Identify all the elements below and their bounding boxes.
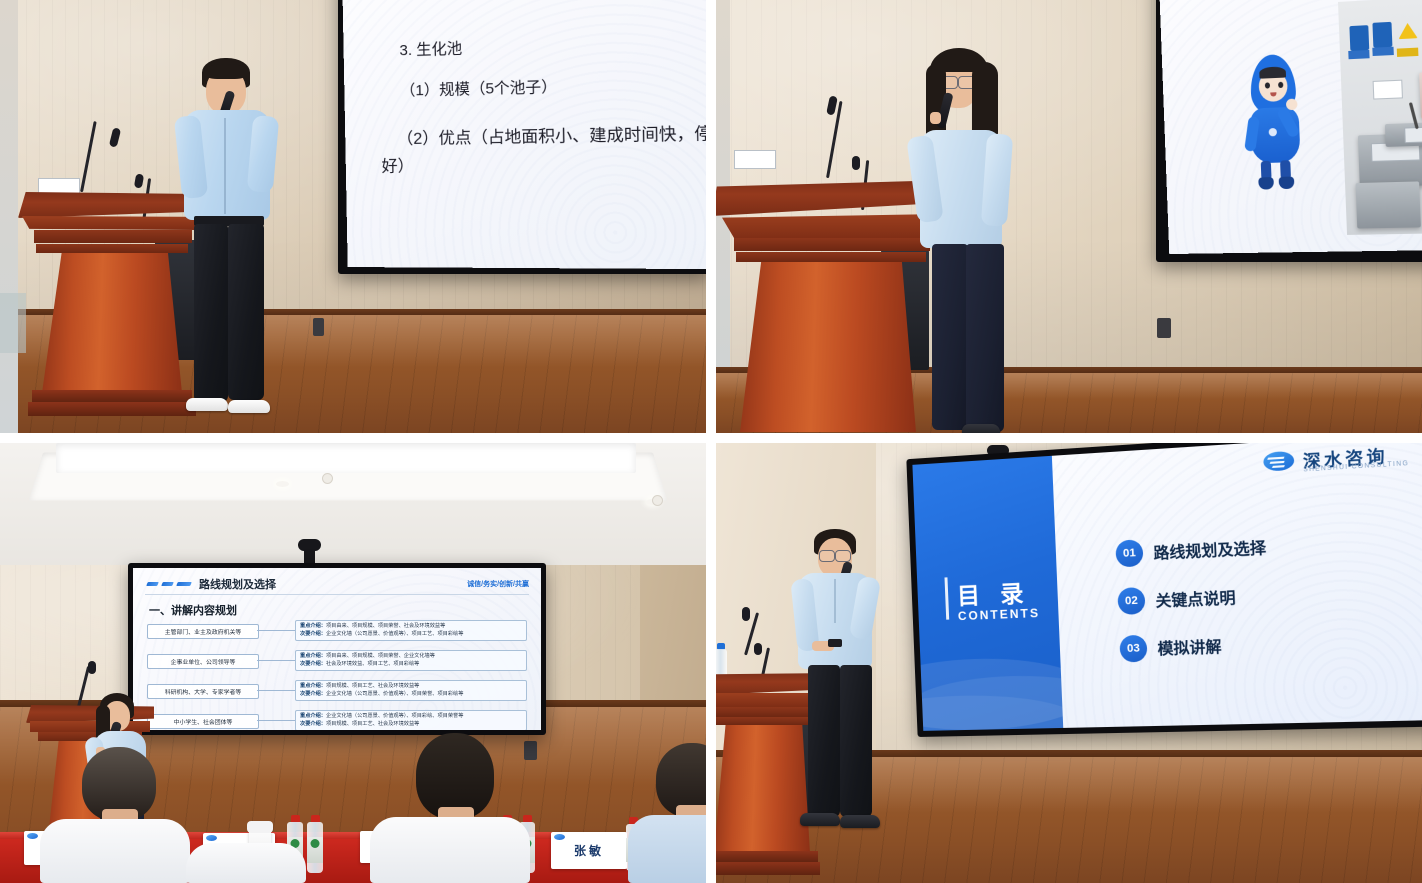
led-screen: 目 录 CONTENTS 深水咨询 SHENSHUI CONSULTING bbox=[912, 443, 1422, 731]
presenter-female bbox=[906, 48, 1030, 433]
audience-member-2 bbox=[370, 733, 530, 883]
mandatory-sign-icon bbox=[1349, 25, 1369, 51]
shoe-right bbox=[962, 424, 1000, 433]
detail-secondary-text-1: 企业文化墙（公司愿景、价值观等）、项目工艺、项目彩绘等 bbox=[326, 631, 463, 637]
podium-base-2 bbox=[28, 402, 196, 416]
water-drop-mascot bbox=[1244, 53, 1306, 192]
shoe-right bbox=[228, 400, 270, 413]
audience-member-1 bbox=[40, 747, 190, 883]
sprinkler bbox=[652, 495, 663, 506]
wall-edge bbox=[0, 0, 18, 433]
detail-secondary-label-3: 次要介绍： bbox=[300, 691, 326, 697]
arm-right bbox=[247, 115, 280, 193]
detail-secondary-text-3: 企业文化墙（公司愿景、价值观等）、项目荣誉、项目彩绘等 bbox=[326, 691, 463, 697]
detail-secondary-label-1: 次要介绍： bbox=[300, 631, 326, 637]
hair-fringe bbox=[204, 64, 248, 79]
downlight-1 bbox=[276, 481, 289, 487]
detail-primary-label-1: 重点介绍： bbox=[300, 623, 326, 629]
name-placard-3: 张敏 bbox=[551, 832, 627, 869]
warning-sign-icon bbox=[1398, 23, 1418, 40]
audience-label-4: 中小学生、社会团体等 bbox=[174, 717, 233, 726]
toc-label-3: 模拟讲解 bbox=[1157, 635, 1222, 659]
detail-secondary-4: 次要介绍：项目规模、项目工艺、社会及环境效益等 bbox=[300, 721, 522, 729]
audience-label-1: 主管部门、业主及政府机关等 bbox=[165, 627, 241, 636]
microphone-head bbox=[88, 661, 96, 674]
logo-stripe-3 bbox=[176, 582, 192, 586]
bottle-label bbox=[307, 837, 323, 863]
podium-band-2 bbox=[36, 244, 188, 253]
sign-caption-2 bbox=[1372, 47, 1393, 56]
detail-primary-2: 重点介绍：项目由来、项目规模、项目荣誉、企业文化墙等 bbox=[300, 653, 522, 661]
mascot-hand bbox=[1286, 99, 1298, 111]
placard-logo-icon bbox=[27, 833, 38, 839]
presentation-screen: 路线规划及选择 诚信/务实/创新/共赢 一、讲解内容规划 主管部门、业主及政府机… bbox=[133, 568, 541, 730]
hair-fringe bbox=[934, 54, 982, 72]
logo-stripe-1 bbox=[1267, 457, 1284, 460]
slide-section-title: 一、讲解内容规划 bbox=[149, 602, 237, 618]
podium-column bbox=[740, 262, 916, 432]
connector-4 bbox=[257, 720, 295, 721]
hand bbox=[930, 112, 941, 124]
podium-band bbox=[734, 238, 930, 251]
audience-member-3 bbox=[628, 743, 706, 883]
slide-screen-frame: 标准值 bbox=[1156, 0, 1422, 262]
smoke-detector bbox=[322, 473, 333, 484]
audience-label-2: 企事业单位、公司领导等 bbox=[171, 657, 236, 666]
toc-title-cn: 目 录 bbox=[956, 574, 1031, 612]
content-moire bbox=[1052, 443, 1422, 728]
logo-stripe-1 bbox=[146, 582, 159, 586]
podium-base-2 bbox=[716, 862, 820, 875]
microphone-head-2 bbox=[754, 643, 762, 655]
toc-number-1: 01 bbox=[1115, 539, 1143, 567]
toc-panel: 目 录 CONTENTS bbox=[912, 456, 1063, 731]
projection-screen-frame: 3. 生化池 （1）规模（5个池子） （2）优点（占地面积小、建成时间快，停留时… bbox=[338, 0, 706, 274]
screen-moire bbox=[133, 568, 541, 730]
mascot-boot-right bbox=[1279, 176, 1295, 189]
ceiling-cove-inner bbox=[56, 443, 636, 473]
connector-1 bbox=[257, 630, 295, 631]
slide-header-slogan: 诚信/务实/创新/共赢 bbox=[467, 579, 529, 589]
leg-left bbox=[808, 665, 840, 817]
shoe-left bbox=[186, 398, 228, 411]
lab-machine-panel-2 bbox=[1404, 126, 1422, 143]
sign-caption-1 bbox=[1348, 50, 1369, 59]
polo-placket bbox=[834, 579, 836, 623]
detail-box-2: 重点介绍：项目由来、项目规模、项目荣誉、企业文化墙等 次要介绍：社会及环境效益、… bbox=[295, 650, 527, 671]
toc-item-2[interactable]: 02 关键点说明 bbox=[1117, 583, 1236, 615]
detail-primary-4: 重点介绍：企业文化墙（公司愿景、价值观等）、项目彩绘、项目荣誉等 bbox=[300, 713, 522, 721]
toc-title-en: CONTENTS bbox=[958, 606, 1041, 623]
detail-primary-text-1: 项目由来、项目规模、项目荣誉、社会及环境效益等 bbox=[326, 623, 445, 629]
photo-bottom-left: 路线规划及选择 诚信/务实/创新/共赢 一、讲解内容规划 主管部门、业主及政府机… bbox=[0, 443, 706, 883]
shoe-left bbox=[800, 813, 840, 826]
detail-primary-text-3: 项目规模、项目工艺、社会及环境效益等 bbox=[326, 683, 419, 689]
presentation-screen-frame: 路线规划及选择 诚信/务实/创新/共赢 一、讲解内容规划 主管部门、业主及政府机… bbox=[128, 563, 546, 735]
lab-machine-3 bbox=[1356, 181, 1421, 228]
audience-label-3: 科研机构、大学、专家学者等 bbox=[165, 687, 241, 696]
mascot-boot-left bbox=[1258, 177, 1274, 190]
slide-line-2: （1）规模（5个池子） bbox=[400, 75, 557, 100]
toc-number-3: 03 bbox=[1119, 635, 1147, 663]
logo-stripe-2 bbox=[161, 582, 174, 586]
wall-outlet bbox=[313, 318, 324, 336]
presenter-clicker bbox=[828, 639, 842, 647]
leg-left bbox=[932, 244, 968, 430]
shirt bbox=[186, 843, 306, 883]
slide-line-4: 好） bbox=[381, 152, 414, 177]
detail-primary-label-2: 重点介绍： bbox=[300, 653, 326, 659]
shirt-placket bbox=[224, 118, 226, 214]
detail-secondary-label-4: 次要介绍： bbox=[300, 721, 326, 727]
presenter-male-glasses bbox=[794, 529, 894, 851]
detail-primary-text-2: 项目由来、项目规模、项目荣誉、企业文化墙等 bbox=[326, 653, 435, 659]
detail-secondary-3: 次要介绍：企业文化墙（公司愿景、价值观等）、项目荣誉、项目彩绘等 bbox=[300, 691, 522, 699]
detail-box-4: 重点介绍：企业文化墙（公司愿景、价值观等）、项目彩绘、项目荣誉等 次要介绍：项目… bbox=[295, 710, 527, 730]
detail-secondary-text-4: 项目规模、项目工艺、社会及环境效益等 bbox=[326, 721, 419, 727]
detail-primary-3: 重点介绍：项目规模、项目工艺、社会及环境效益等 bbox=[300, 683, 522, 691]
podium-band bbox=[34, 230, 192, 243]
leg-right bbox=[228, 224, 264, 400]
wall-outlet bbox=[1157, 318, 1171, 338]
mascot-hair bbox=[1259, 66, 1286, 78]
toc-content-area: 深水咨询 SHENSHUI CONSULTING 01 路线规划及选择 02 关… bbox=[1052, 443, 1422, 728]
photo-top-right: 标准值 bbox=[716, 0, 1422, 433]
microphone-head-2 bbox=[852, 156, 860, 170]
detail-box-1: 重点介绍：项目由来、项目规模、项目荣誉、社会及环境效益等 次要介绍：企业文化墙（… bbox=[295, 620, 527, 641]
audience-box-2: 企事业单位、公司领导等 bbox=[147, 654, 259, 669]
shirt bbox=[40, 819, 190, 883]
slide-screen: 标准值 bbox=[1159, 0, 1422, 254]
toc-accent-bar bbox=[944, 577, 949, 619]
sign-caption-3 bbox=[1397, 48, 1419, 57]
water-bottle-2 bbox=[306, 815, 324, 873]
lab-photo bbox=[1338, 0, 1422, 235]
presenter-male bbox=[176, 58, 296, 426]
podium-nameplate bbox=[734, 150, 776, 169]
placard-logo-icon bbox=[554, 834, 565, 840]
prohibition-sign-icon bbox=[1372, 22, 1392, 48]
photo-bottom-right: 目 录 CONTENTS 深水咨询 SHENSHUI CONSULTING bbox=[716, 443, 1422, 883]
slide-header-title: 路线规划及选择 bbox=[199, 576, 276, 592]
placard-name-3: 张敏 bbox=[574, 842, 604, 859]
leg-right bbox=[840, 665, 872, 817]
toc-item-3[interactable]: 03 模拟讲解 bbox=[1119, 632, 1222, 662]
logo-stripe-2 bbox=[1270, 461, 1285, 464]
tea-cup-lid bbox=[247, 821, 273, 833]
shirt bbox=[628, 815, 706, 883]
placard-logo-icon bbox=[206, 835, 217, 841]
detail-primary-text-4: 企业文化墙（公司愿景、价值观等）、项目彩绘、项目荣誉等 bbox=[326, 713, 463, 719]
detail-secondary-2: 次要介绍：社会及环境效益、项目工艺、项目彩绘等 bbox=[300, 661, 522, 669]
photo-top-left: 3. 生化池 （1）规模（5个池子） （2）优点（占地面积小、建成时间快，停留时… bbox=[0, 0, 706, 433]
led-screen-frame: 目 录 CONTENTS 深水咨询 SHENSHUI CONSULTING bbox=[906, 443, 1422, 737]
toc-label-1: 路线规划及选择 bbox=[1153, 536, 1266, 563]
podium-band-2 bbox=[736, 252, 926, 262]
detail-primary-1: 重点介绍：项目由来、项目规模、项目荣誉、社会及环境效益等 bbox=[300, 623, 522, 631]
leg-right bbox=[966, 244, 1004, 432]
projection-screen: 3. 生化池 （1）规模（5个池子） （2）优点（占地面积小、建成时间快，停留时… bbox=[342, 0, 706, 269]
shoe-right bbox=[840, 815, 880, 828]
shirt bbox=[370, 817, 530, 883]
connector-2 bbox=[257, 660, 295, 661]
glasses-left-lens bbox=[819, 550, 835, 562]
podium-column bbox=[42, 253, 182, 393]
detail-box-3: 重点介绍：项目规模、项目工艺、社会及环境效益等 次要介绍：企业文化墙（公司愿景、… bbox=[295, 680, 527, 701]
detail-secondary-text-2: 社会及环境效益、项目工艺、项目彩绘等 bbox=[326, 661, 419, 667]
arm-right bbox=[981, 133, 1013, 227]
photo-collage: 3. 生化池 （1）规模（5个池子） （2）优点（占地面积小、建成时间快，停留时… bbox=[0, 0, 1422, 883]
connector-3 bbox=[257, 690, 295, 691]
detail-primary-label-3: 重点介绍： bbox=[300, 683, 326, 689]
header-divider bbox=[145, 594, 529, 595]
logo-stripe-3 bbox=[1272, 465, 1285, 468]
slide-line-1: 3. 生化池 bbox=[399, 37, 462, 60]
leg-left bbox=[194, 224, 228, 402]
bottle-label-mark bbox=[311, 839, 320, 848]
detail-secondary-1: 次要介绍：企业文化墙（公司愿景、价值观等）、项目工艺、项目彩绘等 bbox=[300, 631, 522, 639]
audience-member-4 bbox=[186, 843, 306, 883]
glasses-right-lens bbox=[835, 550, 851, 562]
lab-notice bbox=[1373, 80, 1403, 100]
audience-box-1: 主管部门、业主及政府机关等 bbox=[147, 624, 259, 639]
screen-mount-head bbox=[298, 539, 321, 551]
detail-primary-label-4: 重点介绍： bbox=[300, 713, 326, 719]
microphone-head bbox=[742, 607, 750, 621]
detail-secondary-label-2: 次要介绍： bbox=[300, 661, 326, 667]
toc-label-2: 关键点说明 bbox=[1155, 586, 1236, 611]
toc-number-2: 02 bbox=[1117, 587, 1145, 615]
hand bbox=[206, 88, 214, 97]
